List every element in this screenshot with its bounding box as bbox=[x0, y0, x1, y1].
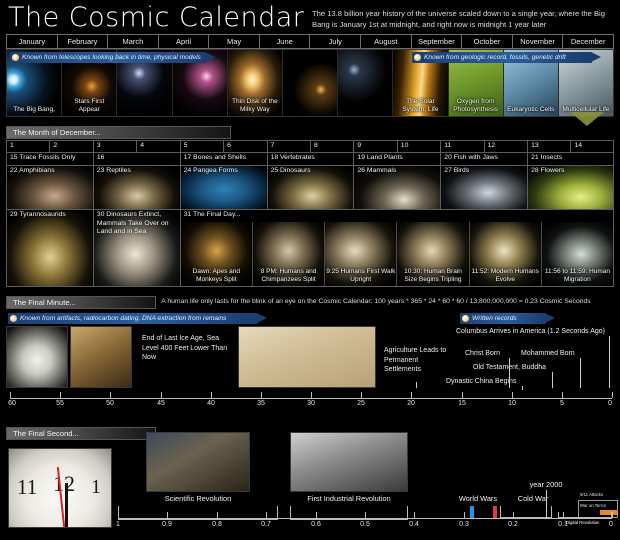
december-row-days-15-21: 15 Trace Fossils Only 16 17 Bones and Sh… bbox=[6, 152, 614, 165]
axis-tick-label: 45 bbox=[157, 400, 165, 407]
month-cell-january: January bbox=[6, 34, 57, 49]
clock-numeral-11: 11 bbox=[17, 475, 37, 500]
axis-tick-label: 0.3 bbox=[459, 521, 469, 528]
strip-caption-milky-way: Thin Disk of the Milky Way bbox=[228, 98, 282, 114]
cold-war-caption: Cold War bbox=[508, 494, 558, 503]
annotation-christ: Christ Born bbox=[465, 350, 500, 357]
day-cell-11: 11 bbox=[440, 140, 483, 152]
day-label: 1 bbox=[10, 142, 47, 151]
axis-tick bbox=[311, 392, 312, 398]
day-cell-9: 9 bbox=[353, 140, 396, 152]
axis-tick-label: 0.6 bbox=[311, 521, 321, 528]
axis-tick bbox=[414, 512, 415, 518]
page-title: The Cosmic Calendar bbox=[8, 2, 304, 33]
ribbon-artifacts-evidence: Known from artifacts, radiocarbon dating… bbox=[8, 313, 258, 324]
axis-tick-label: 0.4 bbox=[409, 521, 419, 528]
axis-baseline bbox=[118, 518, 612, 519]
day-label: 31 The Final Day... bbox=[184, 211, 611, 220]
pocket-watch-image bbox=[6, 326, 68, 388]
axis-tick-label: 1 bbox=[116, 521, 120, 528]
axis-tick bbox=[462, 392, 463, 398]
axis-tick-label: 0.2 bbox=[508, 521, 518, 528]
month-cell-november: November bbox=[512, 34, 563, 49]
december-row-days-22-28: 22 Amphibians 23 Reptiles 24 Pangea Form… bbox=[6, 165, 614, 209]
axis-tick bbox=[512, 392, 513, 398]
scientific-revolution-caption: Scientific Revolution bbox=[146, 494, 250, 503]
scientific-revolution-image bbox=[146, 432, 250, 492]
ribbon-written-records: Written records bbox=[460, 313, 546, 324]
day-cell-28: 28 Flowers bbox=[527, 165, 614, 209]
world-wars-caption: World Wars bbox=[448, 494, 508, 503]
day-label: 8 bbox=[314, 142, 351, 151]
strip-caption-big-bang: The Big Bang, bbox=[7, 106, 61, 114]
axis-tick bbox=[217, 512, 218, 518]
axis-tick bbox=[167, 512, 168, 518]
day-cell-8: 8 bbox=[310, 140, 353, 152]
axis-tick bbox=[118, 512, 119, 518]
day-label: 9 bbox=[357, 142, 394, 151]
day-label: 2 bbox=[53, 142, 90, 151]
day-label: 7 bbox=[271, 142, 308, 151]
day-label: 14 bbox=[574, 142, 610, 151]
axis-tick bbox=[110, 392, 111, 398]
day-cell-30: 30 Dinosaurs Extinct, Mammals Take Over … bbox=[93, 209, 180, 287]
axis-tick bbox=[161, 392, 162, 398]
industrial-revolution-caption: First Industrial Revolution bbox=[282, 494, 416, 503]
axis-tick-label: 40 bbox=[207, 400, 215, 407]
day-cell-29: 29 Tyrannosaurids bbox=[6, 209, 93, 287]
day-cell-24: 24 Pangea Forms bbox=[180, 165, 267, 209]
day-label: 3 bbox=[97, 142, 134, 151]
day-label: 29 Tyrannosaurids bbox=[10, 211, 91, 220]
leader-line-columbus bbox=[609, 336, 610, 388]
cosmic-calendar-infographic: The Cosmic Calendar The 13.8 billion yea… bbox=[0, 0, 620, 540]
axis-tick-label: 0.7 bbox=[261, 521, 271, 528]
day-label: 12 bbox=[488, 142, 525, 151]
day-label: 20 Fish with Jaws bbox=[444, 154, 525, 163]
axis-tick bbox=[513, 512, 514, 518]
attacks-caption: 9/11 Attacks bbox=[580, 492, 603, 497]
day-cell-3: 3 bbox=[93, 140, 136, 152]
december-zoom-arrow-icon bbox=[570, 112, 604, 126]
day-label: 4 bbox=[140, 142, 177, 151]
leader-line-old-testament bbox=[552, 372, 553, 388]
ice-age-caption: End of Last Ice Age, Sea Level 400 Feet … bbox=[142, 334, 234, 363]
clock-numeral-1: 1 bbox=[91, 476, 101, 499]
final-day-cell-brain: 10:30: Human Brain Size Begins Tripling bbox=[397, 222, 469, 286]
leader-line-christ bbox=[509, 358, 510, 388]
axis-tick bbox=[10, 392, 11, 398]
cosmic-seconds-formula: A human life only lasts for the blink of… bbox=[135, 298, 617, 305]
axis-tick-label: 0.9 bbox=[162, 521, 172, 528]
axis-baseline bbox=[10, 398, 612, 399]
page-subtitle: The 13.8 billion year history of the uni… bbox=[312, 8, 612, 30]
axis-tick bbox=[411, 392, 412, 398]
axis-tick-label: 0 bbox=[608, 400, 612, 407]
day-cell-20: 20 Fish with Jaws bbox=[440, 152, 527, 165]
tyrannosaur-illustration bbox=[7, 210, 93, 286]
day-cell-21: 21 Insects bbox=[527, 152, 614, 165]
axis-tick-label: 15 bbox=[458, 400, 466, 407]
axis-tick-label: 20 bbox=[407, 400, 415, 407]
final-day-cell-modern: 11:52: Modern Humans Evolve bbox=[470, 222, 542, 286]
world-war-one-bar bbox=[470, 506, 474, 518]
axis-tick bbox=[365, 512, 366, 518]
day-label: 6 bbox=[227, 142, 264, 151]
axis-tick bbox=[562, 392, 563, 398]
axis-tick-label: 55 bbox=[56, 400, 64, 407]
axis-tick bbox=[612, 392, 613, 398]
day-cell-31: 31 The Final Day... Dawn: Apes and Monke… bbox=[180, 209, 614, 287]
final-day-cell-migration: 11:56 to 11:59: Human Migration bbox=[542, 222, 613, 286]
final-day-caption: 11:52: Modern Humans Evolve bbox=[471, 268, 540, 284]
axis-tick-label: 10 bbox=[508, 400, 516, 407]
axis-tick-label: 0.1 bbox=[558, 521, 568, 528]
axis-tick bbox=[266, 512, 267, 518]
final-day-cell-dawn: Dawn: Apes and Monkeys Split bbox=[181, 222, 253, 286]
month-cell-may: May bbox=[208, 34, 259, 49]
month-cell-march: March bbox=[107, 34, 158, 49]
strip-caption-stars: Stars First Appear bbox=[62, 98, 116, 114]
december-row-days-29-31: 29 Tyrannosaurids 30 Dinosaurs Extinct, … bbox=[6, 209, 614, 287]
leader-line-agriculture bbox=[416, 382, 417, 388]
day-label: 11 bbox=[444, 142, 481, 151]
day-label: 18 Vertebrates bbox=[271, 154, 352, 163]
december-grid: 1 2 3 4 5 6 7 8 9 10 11 12 13 14 15 Trac… bbox=[6, 140, 614, 287]
annotation-columbus: Columbus Arrives in America (1.2 Seconds… bbox=[456, 328, 605, 335]
leader-line-dynastic-china bbox=[522, 386, 523, 390]
final-day-strip: Dawn: Apes and Monkeys Split 8 PM: Human… bbox=[181, 222, 613, 286]
month-cell-february: February bbox=[57, 34, 108, 49]
day-cell-4: 4 bbox=[136, 140, 179, 152]
axis-tick bbox=[316, 512, 317, 518]
final-day-cell-upright: 9:25 Humans First Walk Upright bbox=[325, 222, 397, 286]
day-label: 16 bbox=[97, 154, 178, 163]
day-cell-27: 27 Birds bbox=[440, 165, 527, 209]
day-cell-23: 23 Reptiles bbox=[93, 165, 180, 209]
day-cell-12: 12 bbox=[484, 140, 527, 152]
day-label: 24 Pangea Forms bbox=[184, 167, 265, 176]
day-cell-22: 22 Amphibians bbox=[6, 165, 93, 209]
final-day-caption: 9:25 Humans First Walk Upright bbox=[326, 268, 395, 284]
axis-tick-label: 0.5 bbox=[360, 521, 370, 528]
digital-revolution-caption: Digital Revolution bbox=[566, 520, 599, 525]
day-label: 19 Land Plants bbox=[357, 154, 438, 163]
leader-line-year-2000 bbox=[546, 490, 547, 518]
day-cell-25: 25 Dinosaurs bbox=[267, 165, 354, 209]
axis-tick bbox=[563, 512, 564, 518]
day-cell-18: 18 Vertebrates bbox=[267, 152, 354, 165]
final-minute-content: End of Last Ice Age, Sea Level 400 Feet … bbox=[6, 326, 614, 392]
day-label: 13 bbox=[531, 142, 568, 151]
day-label: 5 bbox=[184, 142, 221, 151]
strip-cell-deep-field-one bbox=[283, 50, 338, 116]
axis-tick-label: 60 bbox=[8, 400, 16, 407]
final-day-caption: Dawn: Apes and Monkeys Split bbox=[182, 268, 251, 284]
clock-face-image: 11 12 1 bbox=[8, 448, 112, 528]
axis-tick-label: 5 bbox=[560, 400, 564, 407]
egyptian-fresco-image bbox=[238, 326, 376, 388]
axis-tick bbox=[211, 392, 212, 398]
final-day-caption: 8 PM: Humans and Chimpanzees Split bbox=[254, 268, 323, 284]
day-label: 30 Dinosaurs Extinct, Mammals Take Over … bbox=[97, 211, 178, 237]
ribbon-cosmic-evidence: Known from telescopes looking back in ti… bbox=[10, 52, 206, 63]
day-cell-2: 2 bbox=[49, 140, 92, 152]
clock-numeral-12: 12 bbox=[53, 471, 75, 497]
cave-painting-image bbox=[70, 326, 132, 388]
section-label-final-second: The Final Second... bbox=[6, 427, 156, 440]
world-war-two-bar bbox=[493, 506, 497, 518]
annotation-mohammed: Mohammed Born bbox=[521, 350, 575, 357]
strip-caption-oxygen: Oxygen from Photosynthesis bbox=[449, 98, 503, 114]
annotation-dynastic-china: Dynastic China Begins bbox=[446, 378, 516, 385]
month-cell-june: June bbox=[259, 34, 310, 49]
december-row-days-1-14: 1 2 3 4 5 6 7 8 9 10 11 12 13 14 bbox=[6, 140, 614, 152]
day-label: 23 Reptiles bbox=[97, 167, 178, 176]
axis-tick bbox=[60, 392, 61, 398]
axis-tick bbox=[464, 512, 465, 518]
strip-cell-milky-way: Thin Disk of the Milky Way bbox=[228, 50, 283, 116]
agriculture-caption: Agriculture Leads to Permanent Settlemen… bbox=[384, 346, 450, 375]
day-cell-17: 17 Bones and Shells bbox=[180, 152, 267, 165]
day-cell-6: 6 bbox=[223, 140, 266, 152]
day-label: 21 Insects bbox=[531, 154, 611, 163]
final-day-cell-chimp: 8 PM: Humans and Chimpanzees Split bbox=[253, 222, 325, 286]
day-cell-1: 1 bbox=[6, 140, 49, 152]
day-cell-15: 15 Trace Fossils Only bbox=[6, 152, 93, 165]
axis-tick-label: 30 bbox=[307, 400, 315, 407]
day-label: 15 Trace Fossils Only bbox=[10, 154, 91, 163]
day-cell-10: 10 bbox=[397, 140, 440, 152]
day-cell-19: 19 Land Plants bbox=[353, 152, 440, 165]
day-cell-13: 13 bbox=[527, 140, 570, 152]
day-label: 17 Bones and Shells bbox=[184, 154, 265, 163]
clock-minute-hand bbox=[65, 483, 68, 528]
month-cell-august: August bbox=[360, 34, 411, 49]
axis-tick bbox=[361, 392, 362, 398]
day-cell-7: 7 bbox=[267, 140, 310, 152]
day-label: 28 Flowers bbox=[531, 167, 611, 176]
day-cell-16: 16 bbox=[93, 152, 180, 165]
strip-cell-deep-field-two bbox=[338, 50, 393, 116]
month-cell-july: July bbox=[309, 34, 360, 49]
day-label: 22 Amphibians bbox=[10, 167, 91, 176]
cold-war-bracket bbox=[500, 506, 552, 518]
day-label: 26 Mammals bbox=[357, 167, 438, 176]
section-label-december: The Month of December... bbox=[6, 126, 231, 139]
day-label: 25 Dinosaurs bbox=[271, 167, 352, 176]
day-cell-5: 5 bbox=[180, 140, 223, 152]
axis-tick-label: 50 bbox=[106, 400, 114, 407]
section-label-final-minute: The Final Minute... bbox=[6, 296, 156, 309]
month-cell-september: September bbox=[411, 34, 462, 49]
month-cell-december: December bbox=[562, 34, 614, 49]
axis-tick bbox=[612, 512, 613, 518]
final-day-caption: 10:30: Human Brain Size Begins Tripling bbox=[398, 268, 467, 284]
month-header-row: January February March April May June Ju… bbox=[6, 34, 614, 49]
axis-tick-label: 0.8 bbox=[212, 521, 222, 528]
month-cell-april: April bbox=[158, 34, 209, 49]
day-cell-14: 14 bbox=[570, 140, 613, 152]
leader-line-mohammed bbox=[580, 358, 581, 388]
day-cell-26: 26 Mammals bbox=[353, 165, 440, 209]
strip-caption-eukaryotic: Eukaryotic Cells bbox=[504, 106, 558, 114]
axis-tick-label: 25 bbox=[357, 400, 365, 407]
axis-tick-label: 35 bbox=[257, 400, 265, 407]
ribbon-geologic-evidence: Known from geologic record, fossils, gen… bbox=[412, 52, 592, 63]
axis-tick-label: 0 bbox=[609, 521, 613, 528]
strip-caption-solar: The Solar System, Life bbox=[393, 98, 447, 114]
year-2000-caption: year 2000 bbox=[518, 480, 574, 489]
final-day-caption: 11:56 to 11:59: Human Migration bbox=[543, 268, 612, 284]
industrial-revolution-image bbox=[290, 432, 408, 492]
day-label: 27 Birds bbox=[444, 167, 525, 176]
month-cell-october: October bbox=[461, 34, 512, 49]
axis-tick bbox=[261, 392, 262, 398]
day-label: 10 bbox=[401, 142, 438, 151]
